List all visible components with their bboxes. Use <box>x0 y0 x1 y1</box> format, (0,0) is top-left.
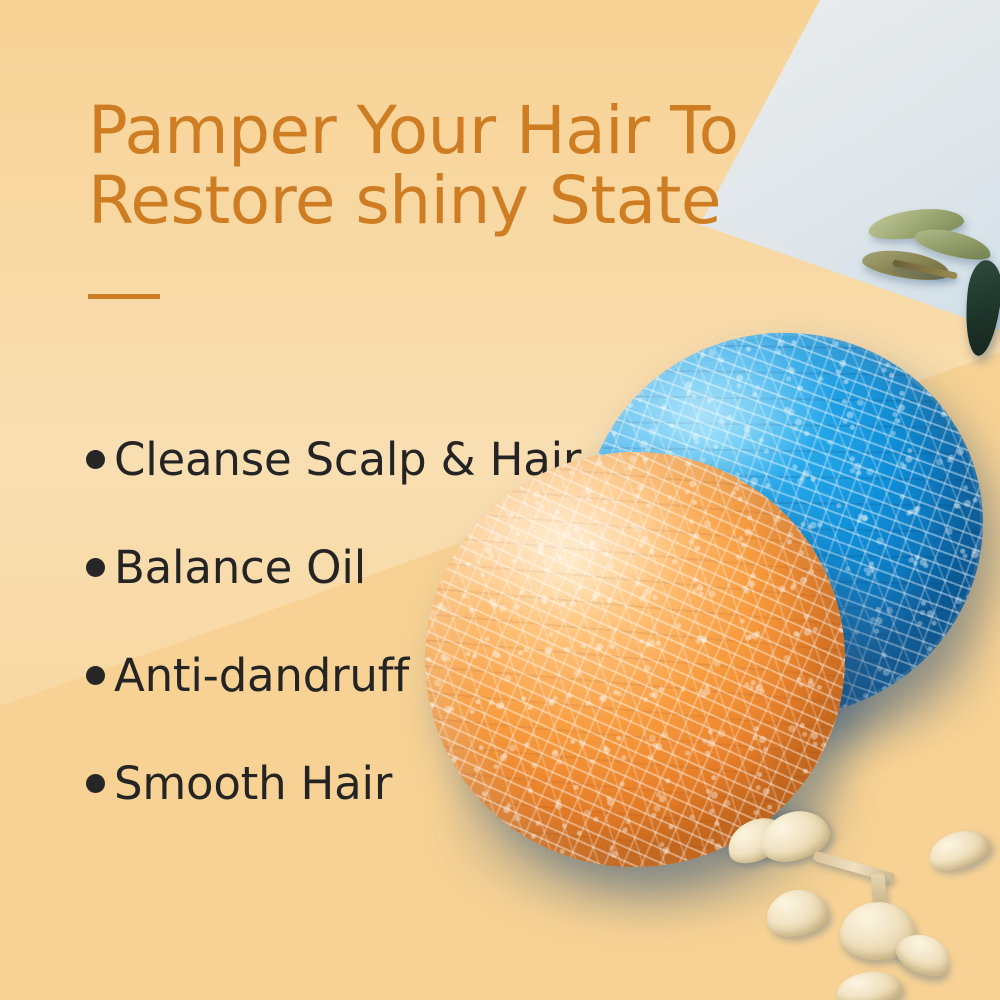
bullet-dot-icon <box>86 774 105 793</box>
benefit-label: Cleanse Scalp & Hair <box>114 437 581 482</box>
jasmine-bud <box>834 969 903 1000</box>
jasmine-bud <box>763 886 831 940</box>
dried-jasmine-buds <box>720 790 1000 1000</box>
product-banner: Pamper Your Hair To Restore shiny State … <box>0 0 1000 1000</box>
eucalyptus-sprig <box>862 206 1000 336</box>
benefit-label: Anti-dandruff <box>114 653 409 698</box>
bullet-dot-icon <box>86 450 105 469</box>
bullet-dot-icon <box>86 666 105 685</box>
benefit-label: Smooth Hair <box>114 761 392 806</box>
bullet-dot-icon <box>86 558 105 577</box>
page-title: Pamper Your Hair To Restore shiny State <box>88 96 908 236</box>
headline-divider <box>88 294 160 299</box>
jasmine-bud <box>924 824 994 876</box>
benefit-label: Balance Oil <box>114 545 366 590</box>
